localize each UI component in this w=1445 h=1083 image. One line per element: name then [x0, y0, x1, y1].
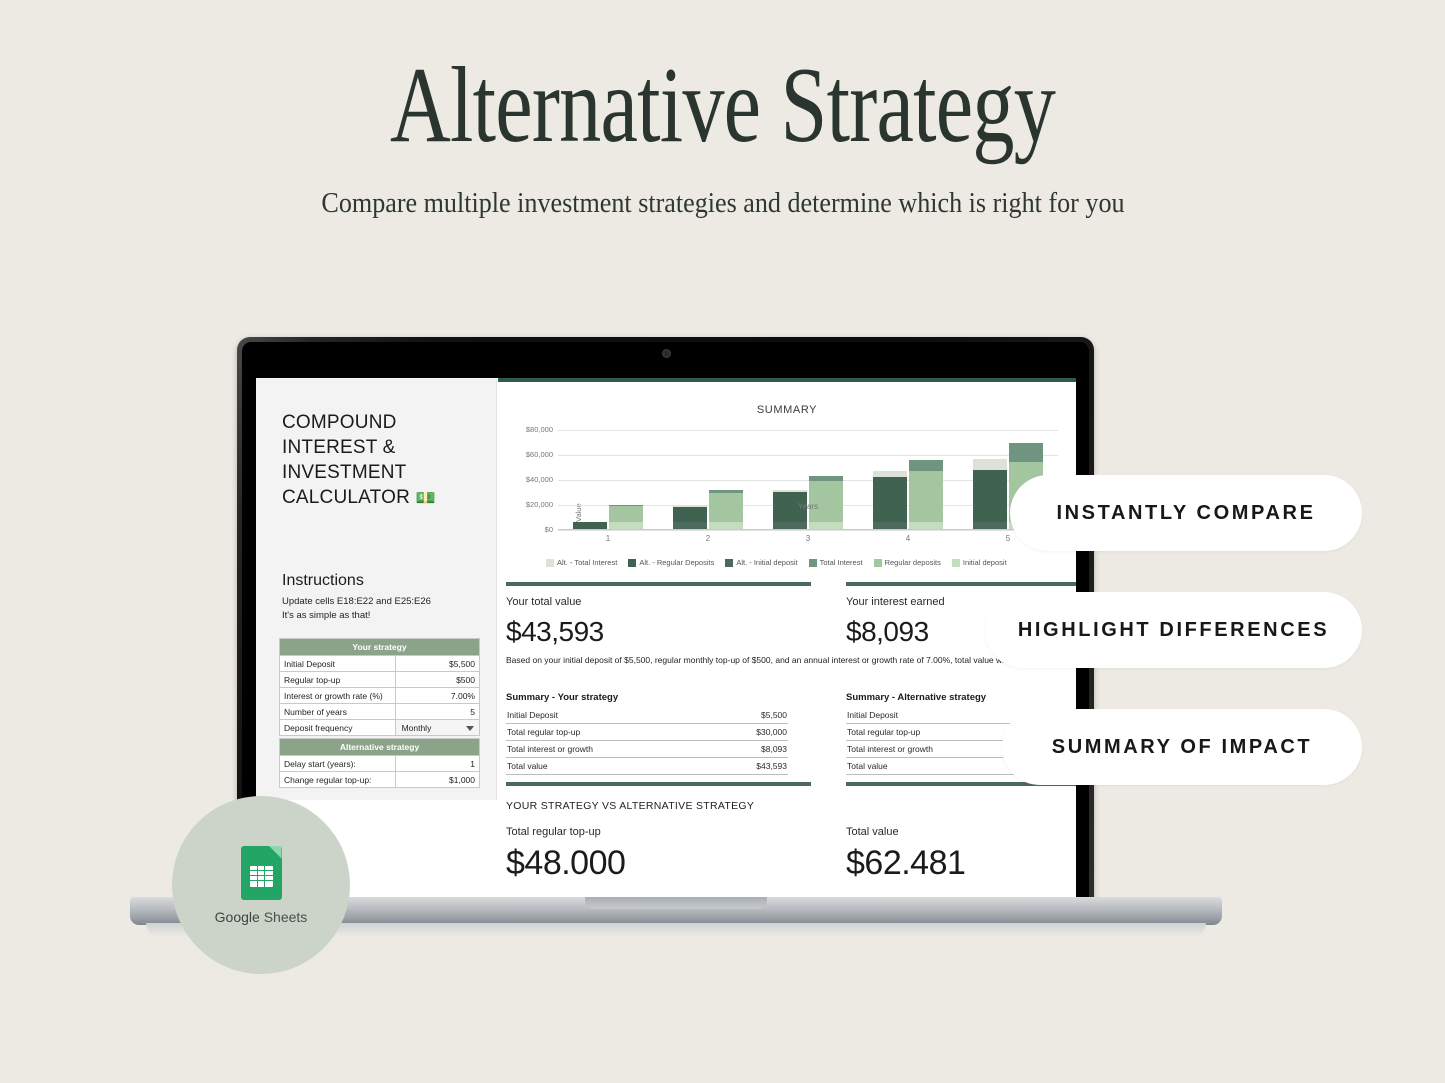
bar-group: [758, 430, 858, 529]
your-strategy-table[interactable]: Your strategy Initial Deposit $5,500 Reg…: [279, 638, 480, 736]
summary-row-label: Total value: [507, 761, 548, 771]
row-label: Initial Deposit: [280, 656, 396, 672]
bar-segment: [909, 460, 943, 471]
table-row[interactable]: Interest or growth rate (%) 7.00%: [280, 688, 480, 704]
chart-bars: [558, 430, 1058, 529]
bar-stack-alt: [873, 471, 907, 529]
y-tick-label: $20,000: [526, 500, 553, 509]
summary-row-label: Initial Deposit: [847, 710, 898, 720]
row-value[interactable]: 7.00%: [395, 688, 479, 704]
summary-row-value: $8,093: [761, 744, 787, 754]
bar-segment: [873, 522, 907, 529]
legend-label: Regular deposits: [885, 558, 941, 567]
interest-earned-label: Your interest earned: [846, 596, 945, 608]
y-tick-label: $60,000: [526, 450, 553, 459]
money-icon: 💵: [415, 490, 435, 507]
summary-row: Total value$43,593: [506, 758, 788, 775]
comparison-left-label: Total regular top-up: [506, 826, 601, 838]
x-tick-label: 4: [858, 534, 958, 543]
bar-segment: [909, 471, 943, 522]
summary-row: Total interest or growth$8,093: [506, 741, 788, 758]
legend-swatch: [725, 559, 733, 567]
bar-segment: [1009, 443, 1043, 462]
callout-label: HIGHLIGHT DIFFERENCES: [1018, 619, 1329, 642]
legend-label: Alt. - Initial deposit: [736, 558, 797, 567]
bar-segment: [909, 522, 943, 529]
summary-row-value: $5,500: [761, 710, 787, 720]
x-tick-label: 2: [658, 534, 758, 543]
legend-swatch: [628, 559, 636, 567]
bar-segment: [573, 522, 607, 529]
summary-your-heading: Summary - Your strategy: [506, 692, 788, 703]
comparison-divider-left: [506, 782, 811, 786]
legend-item: Alt. - Regular Deposits: [628, 558, 714, 567]
legend-swatch: [546, 559, 554, 567]
row-label: Number of years: [280, 704, 396, 720]
webcam-icon: [662, 349, 671, 358]
bar-segment: [973, 522, 1007, 529]
row-label: Regular top-up: [280, 672, 396, 688]
row-value[interactable]: $5,500: [395, 656, 479, 672]
alternative-strategy-table[interactable]: Alternative strategy Delay start (years)…: [279, 738, 480, 788]
row-value[interactable]: $1,000: [395, 772, 479, 788]
y-tick-label: $80,000: [526, 425, 553, 434]
badge-brand: Google: [215, 909, 260, 925]
calculator-title-text: COMPOUND INTEREST & INVESTMENT CALCULATO…: [282, 412, 410, 508]
deposit-frequency-select[interactable]: Monthly: [395, 720, 479, 736]
bar-stack-alt: [573, 522, 607, 529]
calculator-title: COMPOUND INTEREST & INVESTMENT CALCULATO…: [282, 410, 472, 510]
legend-label: Initial deposit: [963, 558, 1007, 567]
your-strategy-header: Your strategy: [280, 639, 480, 656]
summary-row-label: Total interest or growth: [507, 744, 593, 754]
bar-segment: [809, 522, 843, 529]
callout-instantly-compare: INSTANTLY COMPARE: [1010, 475, 1362, 551]
callout-label: SUMMARY OF IMPACT: [1052, 736, 1313, 759]
summary-row-label: Total regular top-up: [507, 727, 580, 737]
row-value[interactable]: 1: [395, 756, 479, 772]
callout-highlight-differences: HIGHLIGHT DIFFERENCES: [985, 592, 1362, 668]
row-label: Delay start (years):: [280, 756, 396, 772]
summary-row: Initial Deposit$5,500: [506, 707, 788, 724]
table-row[interactable]: Regular top-up $500: [280, 672, 480, 688]
spreadsheet-canvas: COMPOUND INTEREST & INVESTMENT CALCULATO…: [256, 378, 1076, 899]
legend-item: Alt. - Total Interest: [546, 558, 617, 567]
row-label: Change regular top-up:: [280, 772, 396, 788]
deposit-frequency-label: Deposit frequency: [280, 720, 396, 736]
bar-segment: [973, 470, 1007, 523]
comparison-title: YOUR STRATEGY VS ALTERNATIVE STRATEGY: [506, 800, 754, 812]
legend-swatch: [809, 559, 817, 567]
interest-earned-amount: $8,093: [846, 616, 929, 648]
page-title: Alternative Strategy: [159, 0, 1286, 160]
laptop-screen: COMPOUND INTEREST & INVESTMENT CALCULATO…: [256, 378, 1076, 899]
instructions-line-2: It's as simple as that!: [282, 610, 370, 621]
chart-legend: Alt. - Total InterestAlt. - Regular Depo…: [546, 558, 1007, 567]
legend-item: Regular deposits: [874, 558, 941, 567]
kpi-divider-left: [506, 582, 811, 586]
summary-row-label: Initial Deposit: [507, 710, 558, 720]
badge-product: Sheets: [264, 909, 308, 925]
bar-segment: [673, 522, 707, 529]
google-sheets-icon: [241, 846, 282, 900]
y-tick-label: $40,000: [526, 475, 553, 484]
chart-title: SUMMARY: [498, 404, 1076, 416]
bar-stack-alt: [973, 459, 1007, 529]
google-sheets-badge: Google Sheets: [172, 796, 350, 974]
alternative-strategy-header: Alternative strategy: [280, 739, 480, 756]
summary-row-label: Total interest or growth: [847, 744, 933, 754]
legend-swatch: [952, 559, 960, 567]
instructions-line-1: Update cells E18:E22 and E25:E26: [282, 596, 431, 607]
bar-segment: [609, 522, 643, 529]
summary-row-value: $30,000: [756, 727, 787, 737]
page-subtitle: Compare multiple investment strategies a…: [255, 184, 1191, 222]
instructions-heading: Instructions: [282, 572, 364, 590]
total-value-label: Your total value: [506, 596, 581, 608]
sheet-sidebar: COMPOUND INTEREST & INVESTMENT CALCULATO…: [256, 378, 497, 800]
summary-row-label: Total regular top-up: [847, 727, 920, 737]
callout-label: INSTANTLY COMPARE: [1056, 502, 1315, 525]
bar-group: [558, 430, 658, 529]
summary-alt-heading: Summary - Alternative strategy: [846, 692, 1076, 703]
deposit-frequency-value: Monthly: [402, 723, 432, 733]
row-label: Interest or growth rate (%): [280, 688, 396, 704]
summary-row-value: $43,593: [756, 761, 787, 771]
y-tick-label: $0: [545, 525, 553, 534]
x-tick-label: 3: [758, 534, 858, 543]
legend-label: Total Interest: [820, 558, 863, 567]
chevron-down-icon[interactable]: [466, 726, 474, 731]
summary-your-strategy: Summary - Your strategy Initial Deposit$…: [506, 692, 788, 775]
comparison-right-value: $62.481: [846, 844, 965, 883]
legend-label: Alt. - Regular Deposits: [639, 558, 714, 567]
chart-x-axis-label: Years: [558, 502, 1058, 511]
comparison-right-label: Total value: [846, 826, 899, 838]
x-tick-label: 1: [558, 534, 658, 543]
row-value[interactable]: 5: [395, 704, 479, 720]
bar-segment: [873, 477, 907, 522]
comparison-left-value: $48.000: [506, 844, 625, 883]
summary-row-label: Total value: [847, 761, 888, 771]
callout-summary-of-impact: SUMMARY OF IMPACT: [1002, 709, 1362, 785]
table-row[interactable]: Initial Deposit $5,500: [280, 656, 480, 672]
table-row[interactable]: Number of years 5: [280, 704, 480, 720]
hero-section: Alternative Strategy Compare multiple in…: [0, 0, 1445, 222]
bar-group: [858, 430, 958, 529]
legend-swatch: [874, 559, 882, 567]
total-value-amount: $43,593: [506, 616, 604, 648]
summary-blurb: Based on your initial deposit of $5,500,…: [506, 654, 1066, 666]
laptop-deck-notch: [585, 897, 767, 909]
gridline: [558, 530, 1058, 531]
legend-label: Alt. - Total Interest: [557, 558, 617, 567]
legend-item: Total Interest: [809, 558, 863, 567]
table-row[interactable]: Deposit frequency Monthly: [280, 720, 480, 736]
bar-segment: [973, 459, 1007, 470]
table-row[interactable]: Delay start (years): 1: [280, 756, 480, 772]
summary-chart: Value $0$20,000$40,000$60,000$80,000 123…: [558, 430, 1058, 530]
row-value[interactable]: $500: [395, 672, 479, 688]
table-row[interactable]: Change regular top-up: $1,000: [280, 772, 480, 788]
bar-group: [658, 430, 758, 529]
summary-row: Total regular top-up$30,000: [506, 724, 788, 741]
kpi-divider-right: [846, 582, 1076, 586]
bar-segment: [709, 522, 743, 529]
bar-stack-yours: [909, 460, 943, 529]
legend-item: Alt. - Initial deposit: [725, 558, 797, 567]
google-sheets-label: Google Sheets: [215, 909, 308, 925]
legend-item: Initial deposit: [952, 558, 1007, 567]
bar-segment: [773, 522, 807, 529]
